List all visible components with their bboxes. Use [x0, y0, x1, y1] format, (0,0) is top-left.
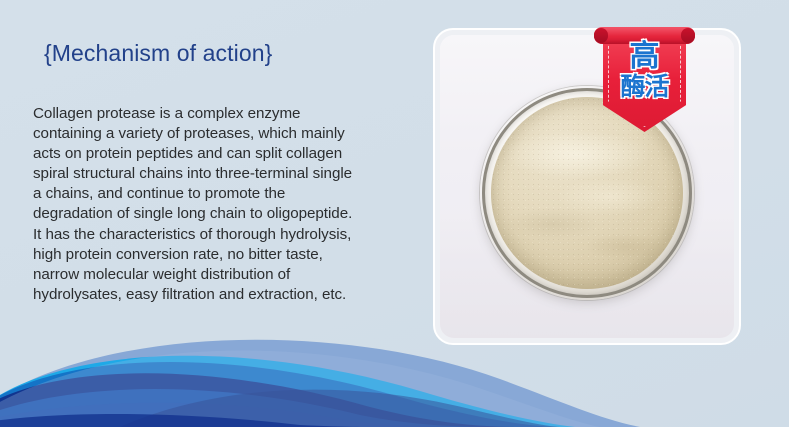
ribbon-label: 高 酶活 [603, 41, 686, 101]
wave-band-mid-blue [0, 389, 500, 427]
wave-band-bottom-dark [0, 414, 380, 427]
wave-band-navy [0, 373, 520, 427]
high-enzyme-activity-ribbon: 高 酶活 [603, 27, 686, 132]
ribbon-label-line1: 高 [603, 41, 686, 73]
wave-band-light-overlay [0, 350, 600, 427]
wave-band-strong-blue [0, 403, 470, 427]
text-column: {Mechanism of action} Collagen protease … [0, 0, 430, 340]
body-paragraph: Collagen protease is a complex enzyme co… [33, 104, 425, 305]
wave-band-dark-sweep [120, 390, 560, 427]
wave-band-cyan [0, 356, 575, 427]
slide-canvas: {Mechanism of action} Collagen protease … [0, 0, 789, 427]
ribbon-label-line2: 酶活 [603, 73, 686, 101]
wave-band-pale [0, 340, 640, 427]
page-title: {Mechanism of action} [44, 38, 272, 68]
product-photo [440, 35, 734, 338]
wave-band-medium [0, 362, 552, 427]
product-photo-card [433, 28, 741, 345]
